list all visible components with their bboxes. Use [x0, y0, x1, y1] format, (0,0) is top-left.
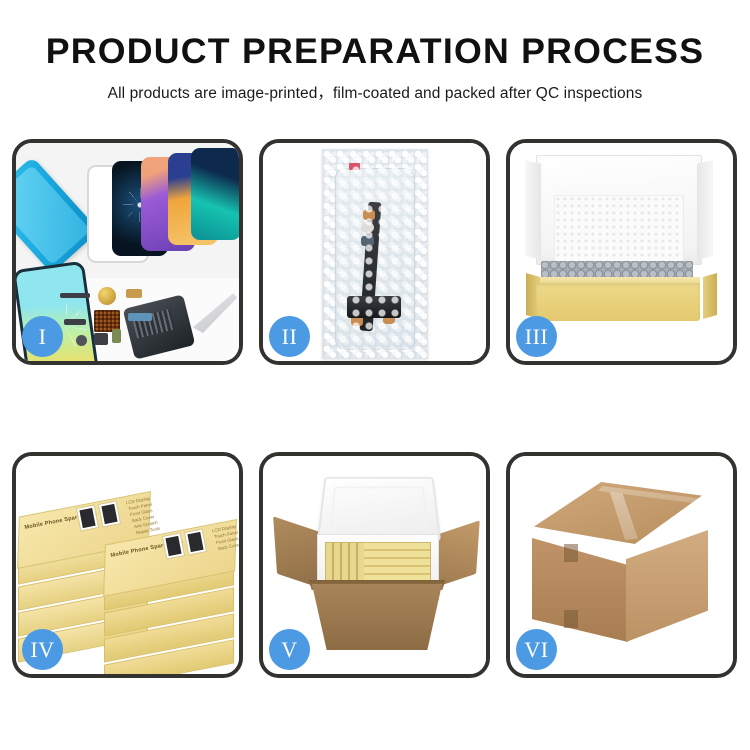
bubble-wrap-bag-icon: [322, 149, 428, 359]
step-badge-5: V: [269, 629, 310, 670]
battery-icon: [112, 329, 121, 343]
step-badge-6: VI: [516, 629, 557, 670]
carton-right-face: [626, 530, 708, 642]
header: PRODUCT PREPARATION PROCESS All products…: [0, 0, 750, 103]
foam-box-lid-icon: [317, 477, 441, 541]
speaker-part-icon: [98, 287, 116, 305]
earpiece-icon: [94, 333, 108, 345]
red-label-icon: [349, 163, 360, 170]
step-panel-5: V: [259, 452, 490, 678]
step-badge-1: I: [22, 316, 63, 357]
step-panel-4: Mobile Phone Spare Parts LCD Display Tou…: [12, 452, 243, 678]
step-badge-3: III: [516, 316, 557, 357]
step-panel-2: II: [259, 139, 490, 365]
camera-module-icon: [128, 313, 152, 321]
carton-front-icon: [303, 584, 451, 650]
connector-tan-1: [363, 210, 375, 220]
box-tray-right: [703, 273, 717, 319]
teal-phone-icon: [191, 148, 239, 240]
vibrator-icon: [76, 335, 87, 346]
connector-white: [361, 222, 374, 233]
yellow-box-tray-icon: [536, 283, 700, 321]
step-panel-6: VI: [506, 452, 737, 678]
carton-left-face: [532, 538, 628, 642]
carton-seam-lower: [564, 610, 578, 628]
screen-bottom-module: [347, 296, 401, 318]
step-badge-4: IV: [22, 629, 63, 670]
foam-sheet-icon: [554, 195, 684, 267]
page-title: PRODUCT PREPARATION PROCESS: [0, 34, 750, 69]
step-badge-2: II: [269, 316, 310, 357]
carton-seam-upper: [564, 544, 578, 562]
small-flex-icon: [64, 319, 86, 325]
flex-cable-icon: [60, 293, 90, 298]
product-preparation-infographic: PRODUCT PREPARATION PROCESS All products…: [0, 0, 750, 750]
step-panel-3: III: [506, 139, 737, 365]
steps-grid: I II: [12, 139, 738, 678]
connector-grey: [361, 236, 374, 246]
page-subtitle: All products are image-printed，film-coat…: [0, 81, 750, 103]
gold-connector-icon: [126, 289, 142, 298]
step-panel-1: I: [12, 139, 243, 365]
